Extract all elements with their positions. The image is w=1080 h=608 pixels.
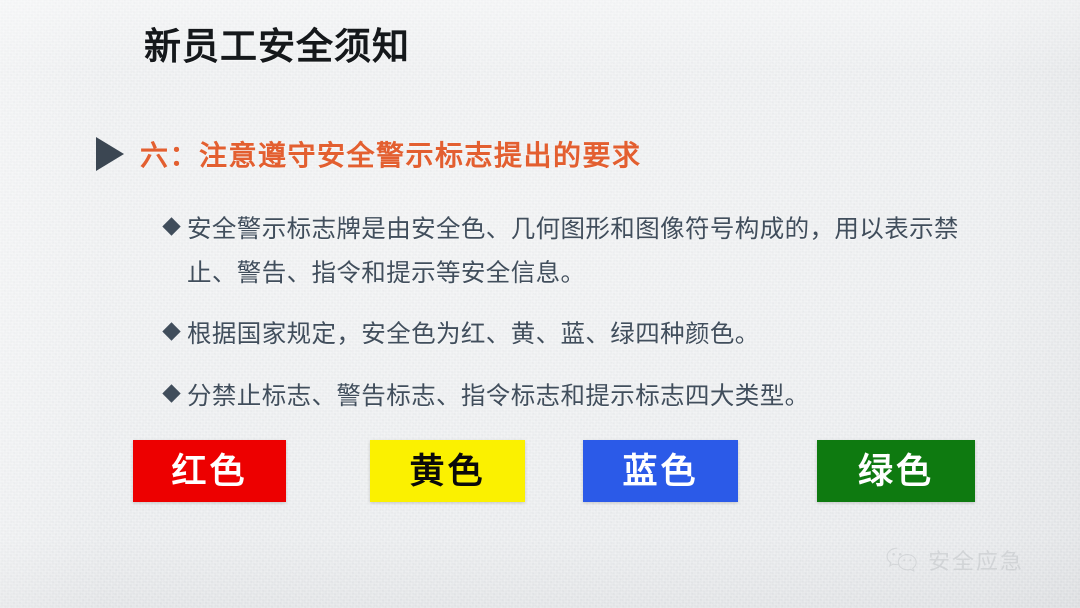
watermark: 安全应急 [885, 544, 1024, 576]
list-item-text: 安全警示标志牌是由安全色、几何图形和图像符号构成的，用以表示禁止、警告、指令和提… [187, 208, 985, 295]
list-item: 根据国家规定，安全色为红、黄、蓝、绿四种颜色。 [165, 313, 985, 357]
section-heading-label: 六：注意遵守安全警示标志提出的要求 [140, 134, 642, 174]
swatch-blue-label: 蓝色 [622, 454, 698, 489]
swatch-green-label: 绿色 [858, 454, 934, 489]
list-item-text: 分禁止标志、警告标志、指令标志和提示标志四大类型。 [187, 375, 985, 419]
list-item: 分禁止标志、警告标志、指令标志和提示标志四大类型。 [165, 375, 985, 419]
page-title: 新员工安全须知 [144, 24, 410, 70]
wechat-icon [885, 546, 919, 574]
diamond-icon [162, 217, 180, 235]
list-item: 安全警示标志牌是由安全色、几何图形和图像符号构成的，用以表示禁止、警告、指令和提… [165, 208, 985, 295]
slide-canvas: 新员工安全须知 六：注意遵守安全警示标志提出的要求 安全警示标志牌是由安全色、几… [0, 0, 1080, 608]
swatch-green: 绿色 [817, 440, 975, 502]
diamond-icon [162, 384, 180, 402]
swatch-yellow-label: 黄色 [409, 454, 485, 489]
bullet-list: 安全警示标志牌是由安全色、几何图形和图像符号构成的，用以表示禁止、警告、指令和提… [165, 208, 985, 418]
swatch-blue: 蓝色 [583, 440, 738, 502]
list-item-text: 根据国家规定，安全色为红、黄、蓝、绿四种颜色。 [187, 313, 985, 357]
swatch-red: 红色 [133, 440, 286, 502]
watermark-label: 安全应急 [928, 544, 1024, 576]
safety-color-swatches: 红色 黄色 蓝色 绿色 [133, 440, 975, 504]
swatch-red-label: 红色 [171, 454, 247, 489]
swatch-yellow: 黄色 [370, 440, 525, 502]
triangle-right-icon [96, 137, 124, 171]
section-heading: 六：注意遵守安全警示标志提出的要求 [96, 134, 642, 174]
diamond-icon [162, 323, 180, 341]
